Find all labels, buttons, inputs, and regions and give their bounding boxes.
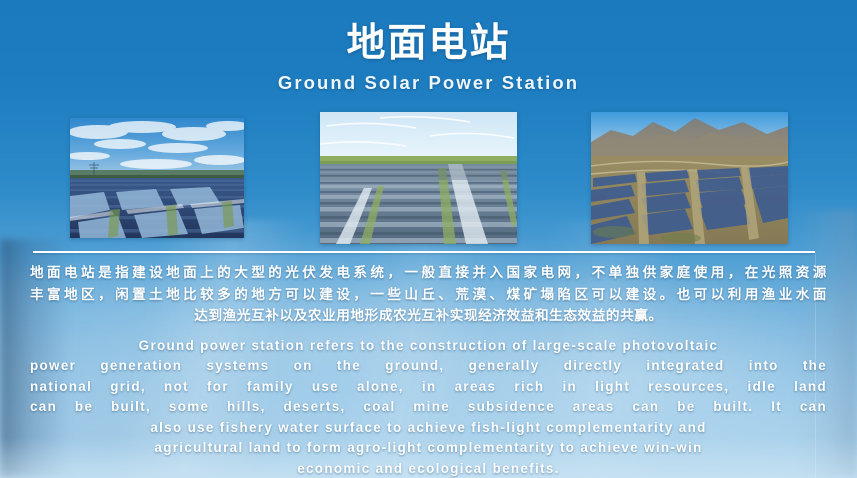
section-divider [33,251,815,253]
slide-root: 地面电站 Ground Solar Power Station [0,0,857,478]
solar-farm-aerial-plain-image [320,112,517,244]
english-line-2: power generation systems on the ground, … [30,356,827,377]
solar-farm-mountain-slope-image [591,112,788,244]
page-title-english: Ground Solar Power Station [0,72,857,94]
english-line-5: also use fishery water surface to achiev… [30,418,827,439]
chinese-paragraph: 地面电站是指建设地面上的大型的光伏发电系统，一般直接并入国家电网，不单独供家庭使… [30,262,827,327]
english-line-7: economic and ecological benefits. [30,459,827,478]
page-title-chinese: 地面电站 [0,24,857,65]
english-line-3: national grid, not for family use alone,… [30,377,827,398]
english-line-4: can be built, some hills, deserts, coal … [30,397,827,418]
english-line-6: agricultural land to form agro-light com… [30,438,827,459]
title-block: 地面电站 Ground Solar Power Station [0,24,857,94]
chinese-line-2: 丰富地区，闲置土地比较多的地方可以建设，一些山丘、荒漠、煤矿塌陷区可以建设。也可… [30,284,827,306]
photo-solar-farm-mountain-slope [591,112,788,244]
chinese-line-3: 达到渔光互补以及农业用地形成农光互补实现经济效益和生态效益的共赢。 [30,305,827,327]
chinese-line-1: 地面电站是指建设地面上的大型的光伏发电系统，一般直接并入国家电网，不单独供家庭使… [30,262,827,284]
english-line-1: Ground power station refers to the const… [30,336,827,357]
photo-row [0,112,857,244]
solar-farm-flat-field-image [70,118,244,238]
english-paragraph: Ground power station refers to the const… [30,336,827,478]
body-text-block: 地面电站是指建设地面上的大型的光伏发电系统，一般直接并入国家电网，不单独供家庭使… [30,262,827,478]
photo-solar-farm-flat-field [70,118,244,238]
photo-solar-farm-aerial-plain [320,112,517,244]
